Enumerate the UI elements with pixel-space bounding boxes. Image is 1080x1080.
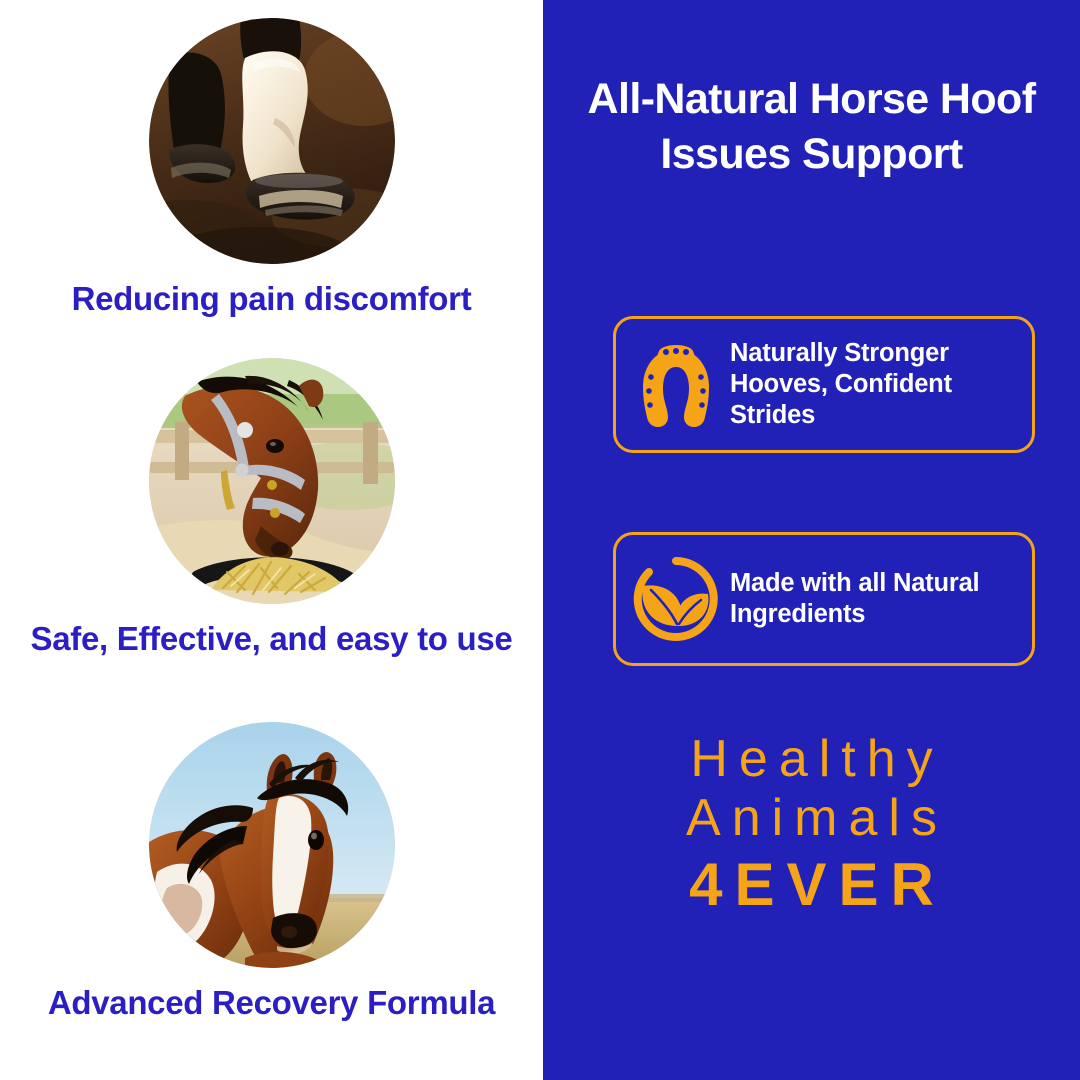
benefit-item-2: Safe, Effective, and easy to use <box>0 358 543 659</box>
brand-line-animals: Animals <box>571 789 1052 848</box>
brand-line-healthy: Healthy <box>571 730 1052 789</box>
brand-lockup: Healthy Animals 4EVER <box>571 730 1052 919</box>
leaf-circle-icon <box>630 549 722 649</box>
feature-badge-label-2: Made with all Natural Ingredients <box>730 568 1016 630</box>
feature-badge-naturally-stronger-hooves: Naturally Stronger Hooves, Confident Str… <box>613 316 1035 453</box>
page-title: All-Natural Horse Hoof Issues Support <box>571 72 1052 182</box>
horse-eating-hay-photo <box>149 358 395 604</box>
product-infographic: Reducing pain discomfort <box>0 0 1080 1080</box>
feature-badge-label-1: Naturally Stronger Hooves, Confident Str… <box>730 338 1016 431</box>
feature-badge-natural-ingredients: Made with all Natural Ingredients <box>613 532 1035 666</box>
benefit-caption-3: Advanced Recovery Formula <box>0 984 543 1023</box>
benefit-caption-2: Safe, Effective, and easy to use <box>0 620 543 659</box>
benefit-caption-1: Reducing pain discomfort <box>0 280 543 319</box>
blue-info-panel: All-Natural Horse Hoof Issues Support Na… <box>543 0 1080 1080</box>
benefit-item-1: Reducing pain discomfort <box>0 18 543 319</box>
benefit-item-3: Advanced Recovery Formula <box>0 722 543 1023</box>
brand-line-4ever: 4EVER <box>571 850 1052 919</box>
benefits-column: Reducing pain discomfort <box>0 0 543 1080</box>
horseshoe-icon <box>630 335 722 435</box>
horse-hoof-closeup-photo <box>149 18 395 264</box>
paint-horse-portrait-photo <box>149 722 395 968</box>
